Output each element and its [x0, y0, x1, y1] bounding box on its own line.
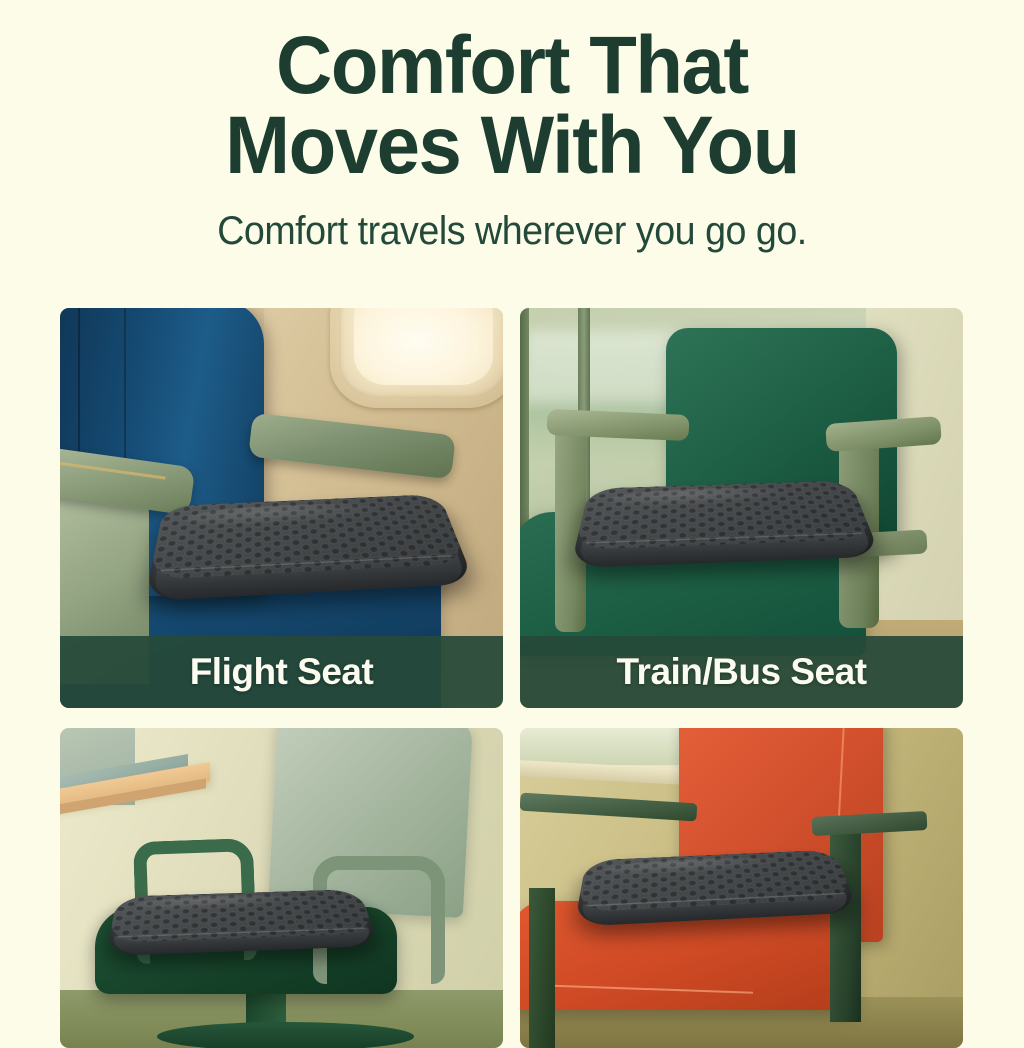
header: Comfort That Moves With You Comfort trav… — [0, 0, 1024, 254]
panel-home-window-chair[interactable] — [520, 728, 963, 1048]
seat-cushion-product — [145, 494, 476, 601]
armrest-left-leg — [529, 888, 556, 1048]
scene-window-chair — [520, 728, 963, 1048]
headline-line-1: Comfort That — [276, 20, 748, 111]
window-bezel — [339, 308, 503, 398]
seat-cushion-product — [105, 889, 380, 956]
headline-line-2: Moves With You — [26, 106, 999, 186]
scene-office-desk — [60, 728, 503, 1048]
page-title: Comfort That Moves With You — [26, 26, 999, 187]
window-glass — [354, 308, 493, 385]
panel-office-desk-chair[interactable] — [60, 728, 503, 1048]
use-case-grid: Flight Seat — [60, 308, 963, 1048]
panel-caption-train-bus-seat: Train/Bus Seat — [520, 636, 963, 708]
chair-base — [157, 1022, 414, 1048]
chair-stitching — [539, 984, 753, 993]
panel-flight-seat[interactable]: Flight Seat — [60, 308, 503, 708]
subtitle: Comfort travels wherever you go go. — [31, 209, 994, 254]
seat-cushion-product — [570, 481, 880, 568]
panel-caption-flight-seat: Flight Seat — [60, 636, 503, 708]
airplane-window-icon — [330, 308, 503, 408]
panel-train-bus-seat[interactable]: Train/Bus Seat — [520, 308, 963, 708]
